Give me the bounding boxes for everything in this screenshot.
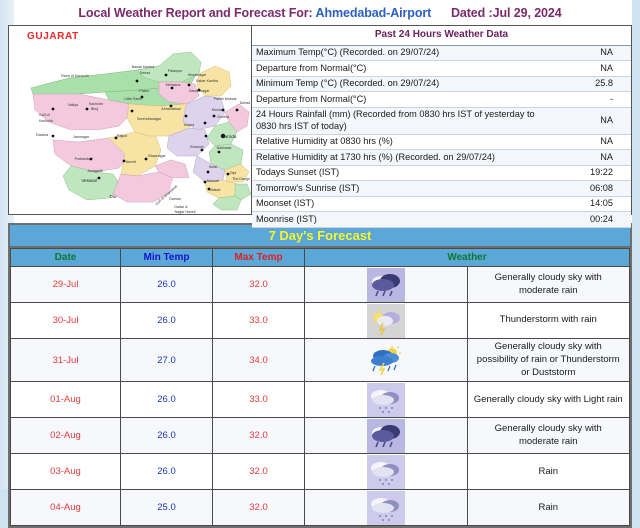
weather-report-page: Local Weather Report and Forecast For: A… xyxy=(0,0,640,489)
table-row: Moonrise (IST) 00:24 xyxy=(252,212,631,228)
row-label: Todays Sunset (IST) xyxy=(252,165,553,181)
svg-text:Bhavnagar: Bhavnagar xyxy=(148,154,166,158)
page-title: Local Weather Report and Forecast For: A… xyxy=(0,0,640,25)
svg-text:Narmada: Narmada xyxy=(217,146,232,150)
svg-text:Dohad: Dohad xyxy=(240,101,251,105)
map-state-label: GUJARAT xyxy=(27,31,79,42)
svg-text:Gandhinagar: Gandhinagar xyxy=(189,89,211,93)
svg-text:Rajkot: Rajkot xyxy=(117,134,127,138)
forecast-max-temp: 32.0 xyxy=(213,454,305,490)
table-row: Departure from Normal(°C) NA xyxy=(252,61,631,77)
past-24-hours-table: Past 24 Hours Weather Data Maximum Temp(… xyxy=(252,26,631,228)
forecast-date: 02-Aug xyxy=(11,418,121,454)
svg-text:Diu: Diu xyxy=(110,194,117,199)
row-label: Departure from Normal(°C) xyxy=(252,61,553,77)
forecast-date: 29-Jul xyxy=(11,267,121,303)
svg-text:Himatnagar: Himatnagar xyxy=(188,73,207,77)
svg-text:Bhuj: Bhuj xyxy=(91,107,98,111)
table-row: Maximum Temp(°C) (Recorded. on 29/07/24)… xyxy=(252,45,631,61)
svg-text:Godhra: Godhra xyxy=(217,115,229,119)
row-value: 14:05 xyxy=(553,196,631,212)
thunderstorm-sun-icon xyxy=(367,304,405,338)
forecast-min-temp: 26.0 xyxy=(121,303,213,339)
forecast-max-temp: 32.0 xyxy=(213,267,305,303)
forecast-weather: Rain xyxy=(467,454,630,490)
svg-text:Veraval: Veraval xyxy=(81,178,96,183)
cloud-heavy-rain-icon xyxy=(367,419,405,453)
forecast-icon-cell xyxy=(305,339,468,382)
forecast-weather: Thunderstorm with rain xyxy=(467,303,630,339)
row-label: Moonset (IST) xyxy=(252,196,553,212)
column-header-date: Date xyxy=(11,249,121,267)
table-row: 24 Hours Rainfall (mm) (Recorded from 08… xyxy=(252,107,631,134)
forecast-icon-cell xyxy=(305,418,468,454)
forecast-head: Date Min Temp Max Temp Weather xyxy=(11,249,630,267)
station-name: Ahmedabad-Airport xyxy=(316,6,432,20)
forecast-max-temp: 33.0 xyxy=(213,382,305,418)
table-row: Moonset (IST) 14:05 xyxy=(252,196,631,212)
forecast-weather: Generally cloudy sky with Light rain xyxy=(467,382,630,418)
row-label: Relative Humidity at 0830 hrs (%) xyxy=(252,134,553,150)
forecast-header-row: Date Min Temp Max Temp Weather xyxy=(11,249,630,267)
forecast-min-temp: 27.0 xyxy=(121,339,213,382)
svg-text:Rann of Kachchh: Rann of Kachchh xyxy=(61,74,89,78)
svg-text:Navsari: Navsari xyxy=(207,179,219,183)
gujarat-map: GUJARAT xyxy=(9,26,252,214)
svg-text:Patan: Patan xyxy=(139,89,148,93)
past-24-heading: Past 24 Hours Weather Data xyxy=(252,26,631,45)
forecast-max-temp: 32.0 xyxy=(213,490,305,526)
row-value: NA xyxy=(553,45,631,61)
forecast-body: 29-Jul 26.0 32.0 xyxy=(11,267,630,526)
forecast-weather: Rain xyxy=(467,490,630,526)
row-label: 24 Hours Rainfall (mm) (Recorded from 08… xyxy=(252,107,553,134)
svg-text:Nagar Haveli: Nagar Haveli xyxy=(175,210,196,214)
forecast-weather: Generally cloudy sky with moderate rain xyxy=(467,267,630,303)
svg-text:Kheda: Kheda xyxy=(212,108,222,112)
row-value: - xyxy=(553,92,631,108)
row-label: Minimum Temp (°C) (Recorded. on 29/07/24… xyxy=(252,76,553,92)
table-row: 29-Jul 26.0 32.0 xyxy=(11,267,630,303)
forecast-min-temp: 26.0 xyxy=(121,454,213,490)
table-row: 31-Jul 27.0 34.0 xyxy=(11,339,630,382)
forecast-panel: 7 Day's Forecast Date Min Temp Max Temp … xyxy=(8,223,632,528)
forecast-date: 03-Aug xyxy=(11,454,121,490)
svg-text:Palanpur: Palanpur xyxy=(168,69,183,73)
svg-text:Amreli: Amreli xyxy=(126,160,136,164)
svg-text:Jamnagar: Jamnagar xyxy=(73,135,90,139)
forecast-date: 01-Aug xyxy=(11,382,121,418)
svg-text:Junagadh: Junagadh xyxy=(87,169,103,173)
svg-text:Surat: Surat xyxy=(209,165,218,169)
svg-text:Kachchh: Kachchh xyxy=(89,102,103,106)
forecast-title: 7 Day's Forecast xyxy=(10,225,630,248)
forecast-min-temp: 26.0 xyxy=(121,267,213,303)
svg-text:Ahmedabad: Ahmedabad xyxy=(161,107,180,111)
svg-text:Baroda: Baroda xyxy=(222,134,237,139)
thunderstorm-duststorm-icon xyxy=(367,343,405,377)
map-graphic: Naliya Kachchh Bhuj Rann of Kachchh Gulf… xyxy=(9,26,252,214)
forecast-icon-cell xyxy=(305,267,468,303)
forecast-date: 30-Jul xyxy=(11,303,121,339)
row-value: NA xyxy=(553,134,631,150)
row-label: Moonrise (IST) xyxy=(252,212,553,228)
past-24-heading-row: Past 24 Hours Weather Data xyxy=(252,26,631,45)
table-row: 30-Jul 26.0 33.0 xyxy=(11,303,630,339)
svg-text:Panch Mahals: Panch Mahals xyxy=(214,97,237,101)
forecast-max-temp: 32.0 xyxy=(213,418,305,454)
forecast-date: 04-Aug xyxy=(11,490,121,526)
row-value: 19:22 xyxy=(553,165,631,181)
past-24-hours-panel: Past 24 Hours Weather Data Maximum Temp(… xyxy=(252,26,631,214)
svg-text:Surendranagar: Surendranagar xyxy=(137,117,162,121)
row-value: 00:24 xyxy=(553,212,631,228)
svg-text:Valsad: Valsad xyxy=(210,188,221,192)
row-label: Tomorrow's Sunrise (IST) xyxy=(252,181,553,197)
table-row: Departure from Normal(°C) - xyxy=(252,92,631,108)
forecast-max-temp: 33.0 xyxy=(213,303,305,339)
svg-text:Daman: Daman xyxy=(169,197,181,201)
forecast-icon-cell xyxy=(305,454,468,490)
cloud-light-rain-icon xyxy=(367,455,405,489)
svg-text:Dwarka: Dwarka xyxy=(36,133,48,137)
table-row: Minimum Temp (°C) (Recorded. on 29/07/24… xyxy=(252,76,631,92)
forecast-min-temp: 26.0 xyxy=(121,382,213,418)
forecast-min-temp: 26.0 xyxy=(121,418,213,454)
forecast-date: 31-Jul xyxy=(11,339,121,382)
column-header-weather: Weather xyxy=(305,249,630,267)
row-value: NA xyxy=(553,150,631,166)
table-row: Todays Sunset (IST) 19:22 xyxy=(252,165,631,181)
cloud-light-rain-icon xyxy=(367,491,405,525)
column-header-min-temp: Min Temp xyxy=(121,249,213,267)
svg-text:Porbandar: Porbandar xyxy=(75,157,93,161)
cloud-heavy-rain-icon xyxy=(367,268,405,302)
cloud-light-rain-icon xyxy=(367,383,405,417)
svg-text:Banas Kantha: Banas Kantha xyxy=(132,65,155,69)
row-value: 25.8 xyxy=(553,76,631,92)
row-value: NA xyxy=(553,61,631,77)
svg-text:Little Rann: Little Rann xyxy=(124,97,141,101)
svg-text:Sabar Kantha: Sabar Kantha xyxy=(196,79,218,83)
svg-text:Bharuch: Bharuch xyxy=(190,145,203,149)
table-row: 01-Aug 26.0 33.0 xyxy=(11,382,630,418)
column-header-max-temp: Max Temp xyxy=(213,249,305,267)
svg-text:Naliya: Naliya xyxy=(68,103,78,107)
past-24-body: Past 24 Hours Weather Data Maximum Temp(… xyxy=(252,26,631,227)
table-row: 02-Aug 26.0 32.0 xyxy=(11,418,630,454)
table-row: Relative Humidity at 0830 hrs (%) NA xyxy=(252,134,631,150)
row-label: Maximum Temp(°C) (Recorded. on 29/07/24) xyxy=(252,45,553,61)
forecast-max-temp: 34.0 xyxy=(213,339,305,382)
forecast-icon-cell xyxy=(305,382,468,418)
row-label: Departure from Normal(°C) xyxy=(252,92,553,108)
top-section: GUJARAT xyxy=(8,25,632,215)
row-label: Relative Humidity at 1730 hrs (%) (Recor… xyxy=(252,150,553,166)
forecast-icon-cell xyxy=(305,490,468,526)
table-row: Tomorrow's Sunrise (IST) 06:08 xyxy=(252,181,631,197)
svg-text:Mehsana: Mehsana xyxy=(166,83,181,87)
svg-text:The Dangs: The Dangs xyxy=(232,177,250,181)
svg-text:Tapi: Tapi xyxy=(230,171,237,175)
svg-text:Anand: Anand xyxy=(184,123,194,127)
svg-text:Deesa: Deesa xyxy=(140,71,150,75)
row-value: 06:08 xyxy=(553,181,631,197)
report-date: Dated :Jul 29, 2024 xyxy=(451,6,562,20)
svg-text:Gulf of: Gulf of xyxy=(39,113,50,117)
title-prefix: Local Weather Report and Forecast For: xyxy=(78,6,312,20)
row-value: NA xyxy=(553,107,631,134)
forecast-min-temp: 25.0 xyxy=(121,490,213,526)
svg-text:Kachchh: Kachchh xyxy=(39,119,53,123)
forecast-table: Date Min Temp Max Temp Weather 29-Jul 26… xyxy=(10,248,630,526)
svg-text:Dadar &: Dadar & xyxy=(174,205,188,209)
table-row: Relative Humidity at 1730 hrs (%) (Recor… xyxy=(252,150,631,166)
forecast-icon-cell xyxy=(305,303,468,339)
forecast-weather: Generally cloudy sky with possibility of… xyxy=(467,339,630,382)
table-row: 03-Aug 26.0 32.0 xyxy=(11,454,630,490)
table-row: 04-Aug 25.0 32.0 xyxy=(11,490,630,526)
forecast-weather: Generally cloudy sky with moderate rain xyxy=(467,418,630,454)
